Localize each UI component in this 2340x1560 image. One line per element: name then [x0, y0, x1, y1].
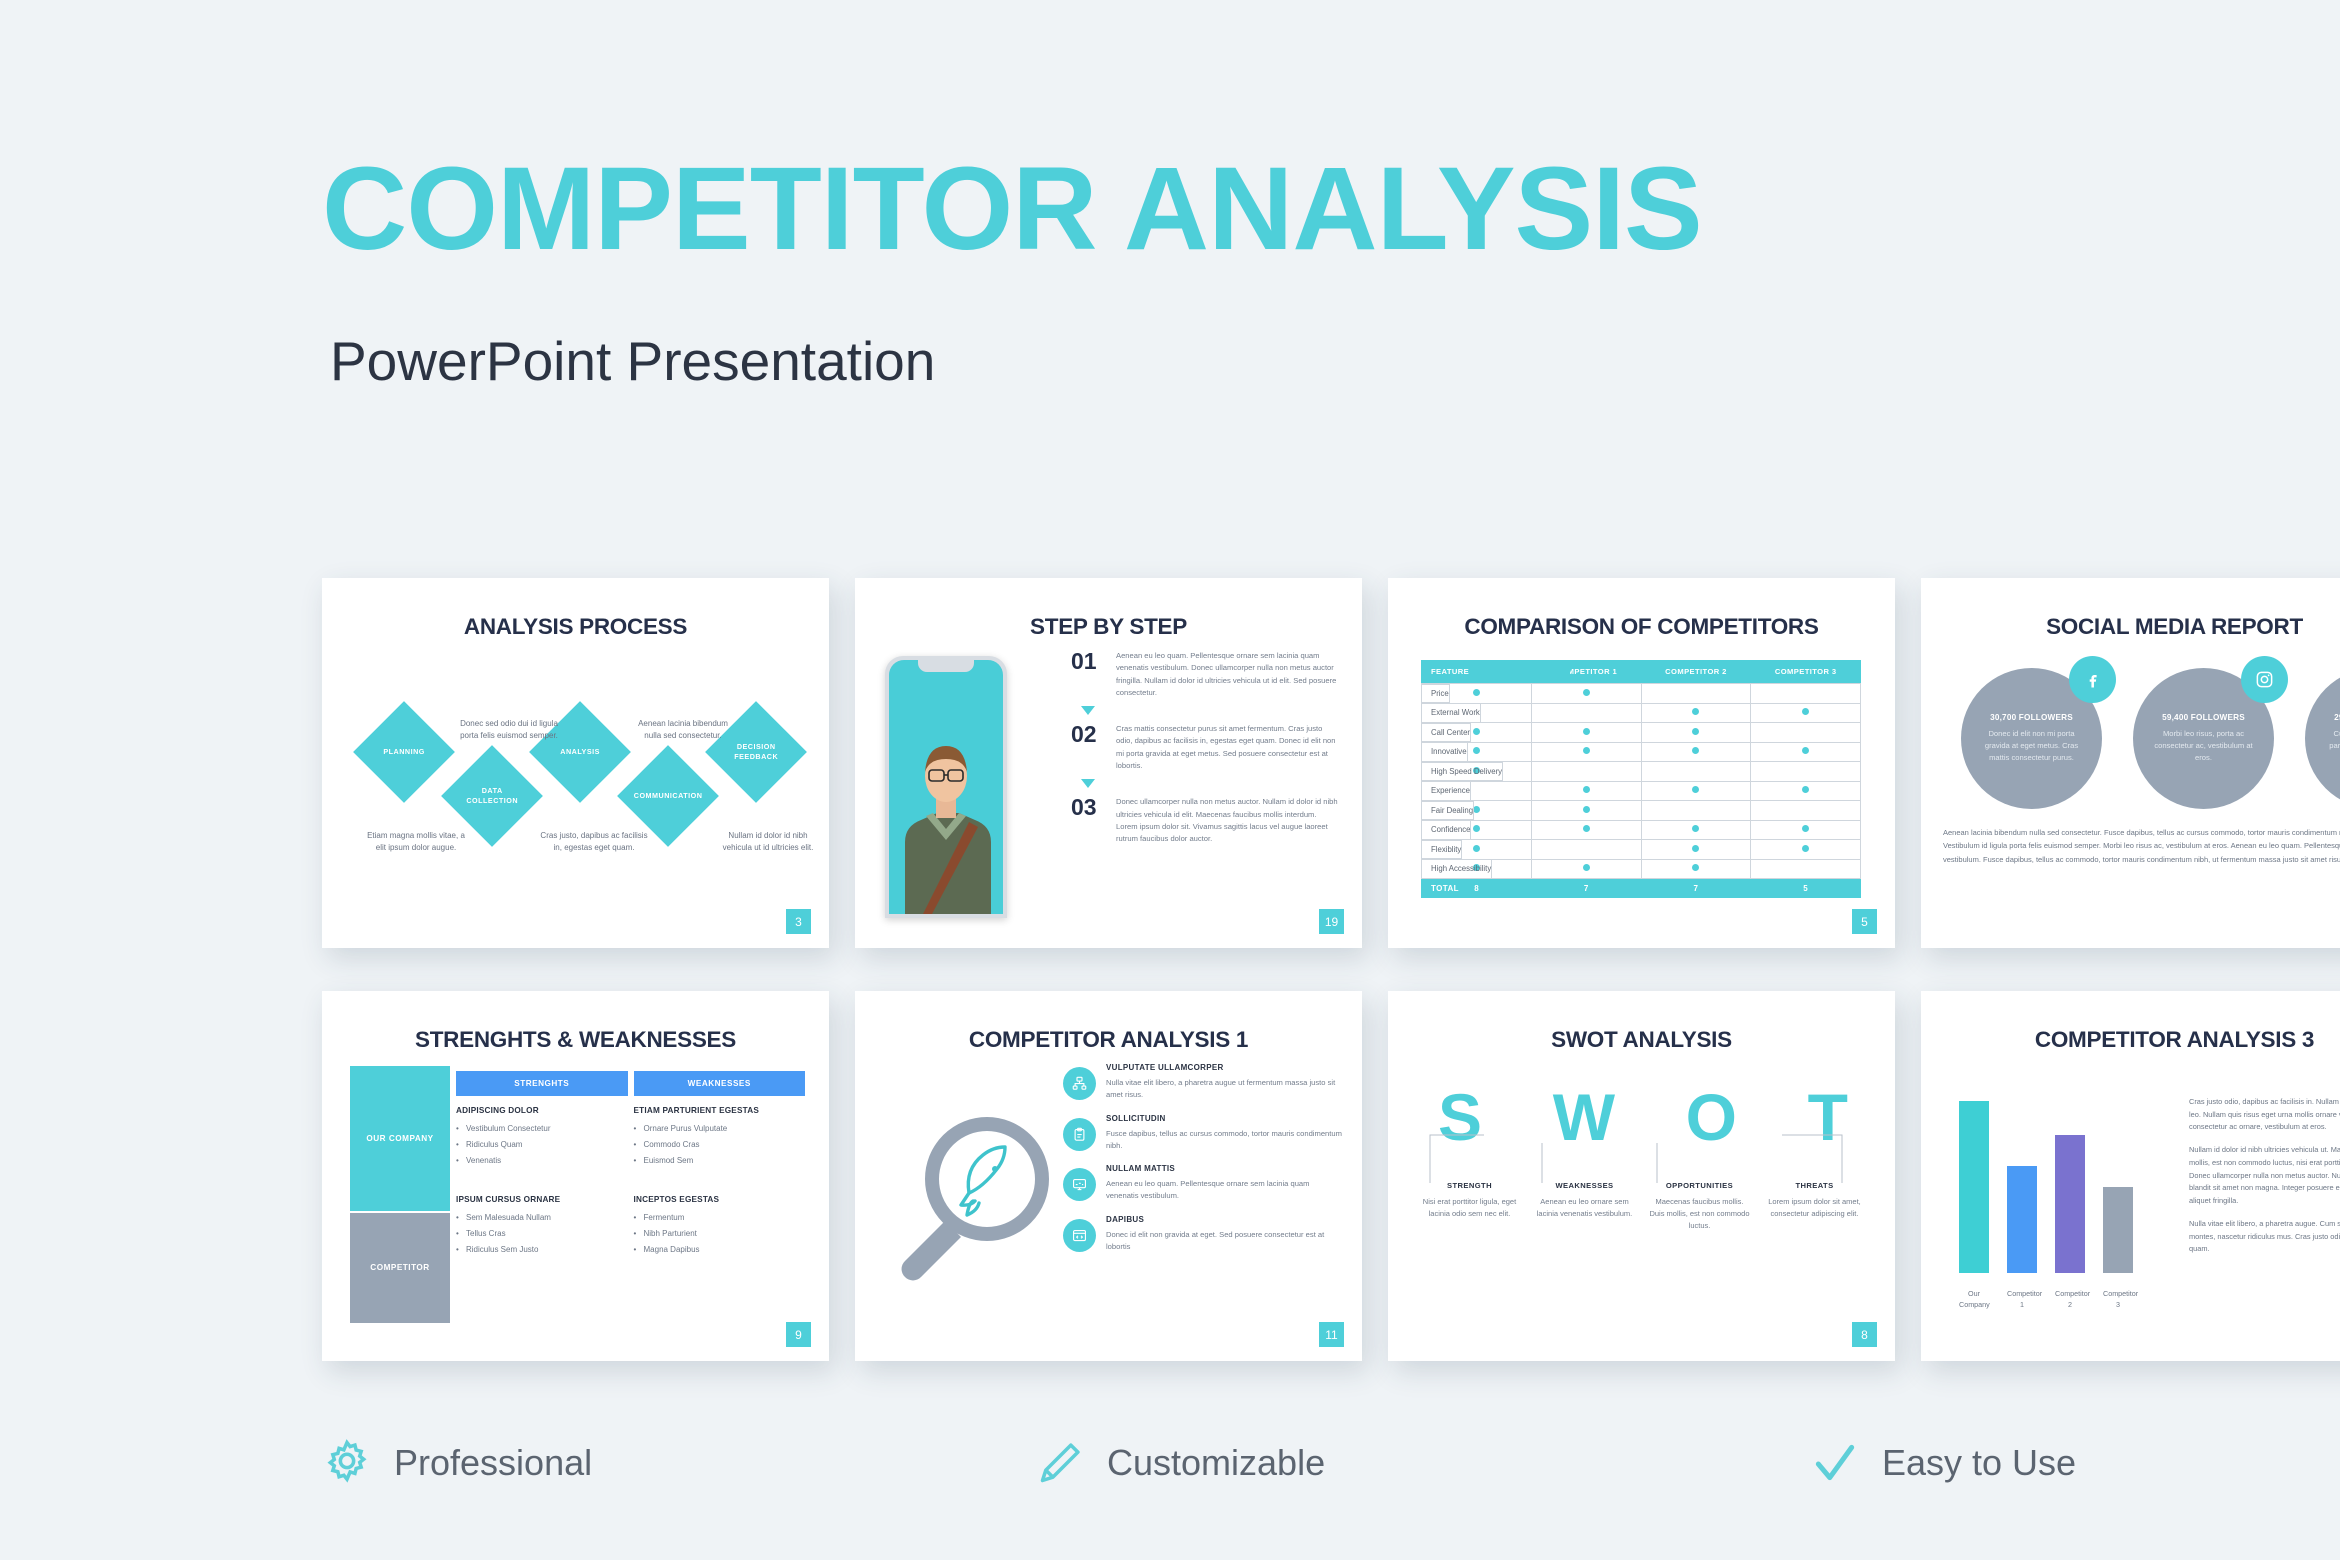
paragraph: Nullam id dolor id nibh ultricies vehicu…	[2189, 1144, 2340, 1208]
bar	[1959, 1101, 1989, 1273]
list-item-heading: NULLAM MATTIS	[1106, 1164, 1343, 1173]
list-item: Vestibulum Consectetur	[456, 1124, 628, 1133]
table-cell-mark	[1751, 820, 1861, 840]
list-item: Ridiculus Quam	[456, 1140, 628, 1149]
competitor-analysis-body: Cras justo odio, dapibus ac facilisis in…	[2189, 1096, 2340, 1266]
list-item: Magna Dapibus	[634, 1245, 806, 1254]
sw-col-heading: ADIPISCING DOLOR	[456, 1106, 628, 1115]
slide-social-media-report[interactable]: SOCIAL MEDIA REPORT 30,700 FOLLOWERS Don…	[1921, 578, 2340, 948]
table-header-cell: FEATURE	[1421, 660, 1570, 683]
table-cell-mark	[1531, 762, 1641, 782]
sw-col-strengths: ADIPISCING DOLOR Vestibulum Consectetur …	[456, 1106, 628, 1172]
sw-col-weaknesses: INCEPTOS EGESTAS Fermentum Nibh Parturie…	[634, 1195, 806, 1261]
slide-title: SOCIAL MEDIA REPORT	[1921, 614, 2340, 640]
check-dot-icon	[1473, 747, 1480, 754]
feature-label: Professional	[394, 1442, 592, 1484]
diamond-label: DATA COLLECTION	[456, 786, 528, 805]
diamond-caption: Donec sed odio dui id ligula porta felis…	[455, 718, 563, 742]
swot-col-heading: THREATS	[1764, 1181, 1865, 1190]
check-dot-icon	[1692, 825, 1699, 832]
check-dot-icon	[1583, 747, 1590, 754]
diamond-caption: Nullam id dolor id nibh vehicula ut id u…	[714, 830, 822, 854]
check-dot-icon	[1692, 786, 1699, 793]
footer-features: Professional Customizable Easy to Use	[0, 1424, 2340, 1534]
sw-col-weaknesses: ETIAM PARTURIENT EGESTAS Ornare Purus Vu…	[634, 1106, 806, 1172]
swot-col-threats: THREATS Lorem ipsum dolor sit amet, cons…	[1757, 1181, 1872, 1232]
feature-label: Customizable	[1107, 1442, 1325, 1484]
sw-header-strengths: STRENGHTS	[456, 1071, 628, 1096]
table-cell-mark	[1531, 723, 1641, 743]
check-dot-icon	[1583, 689, 1590, 696]
list-item: Nibh Parturient	[634, 1229, 806, 1238]
slide-step-by-step[interactable]: STEP BY STEP	[855, 578, 1362, 948]
list-item: Ridiculus Sem Justo	[456, 1245, 628, 1254]
check-dot-icon	[1692, 747, 1699, 754]
table-cell-feature: Fair Dealing	[1421, 801, 1474, 821]
slide-title: COMPETITOR ANALYSIS 1	[855, 1027, 1362, 1053]
table-row: Confidence	[1421, 820, 1861, 840]
list-item-heading: VULPUTATE ULLAMCORPER	[1106, 1063, 1343, 1072]
list-item-text: Donec id elit non gravida at eget. Sed p…	[1106, 1229, 1343, 1254]
step-list: 01 Aenean eu leo quam. Pellentesque orna…	[1071, 650, 1339, 855]
table-cell-mark	[1641, 703, 1751, 723]
check-dot-icon	[1473, 845, 1480, 852]
sw-list: Ornare Purus Vulputate Commodo Cras Euis…	[634, 1124, 806, 1165]
bar-label: Competitor 3	[2103, 1289, 2133, 1311]
bar	[2007, 1166, 2037, 1273]
table-cell-mark	[1641, 781, 1751, 801]
monitor-icon	[1063, 1168, 1096, 1201]
swot-col-heading: WEAKNESSES	[1534, 1181, 1635, 1190]
follower-text: Morbi leo risus, porta ac consectetur ac…	[2149, 728, 2258, 763]
slide-page-number: 11	[1319, 1322, 1344, 1347]
check-dot-icon	[1473, 728, 1480, 735]
table-cell-mark	[1531, 859, 1641, 879]
step-item: 01 Aenean eu leo quam. Pellentesque orna…	[1071, 650, 1339, 699]
table-cell-mark	[1751, 840, 1861, 860]
table-cell-mark	[1641, 840, 1751, 860]
table-cell-feature: Call Center	[1421, 723, 1471, 743]
comparison-table: FEATURE OUR COMPANY COMPETITOR 1 COMPETI…	[1421, 660, 1861, 898]
bar-chart-labels: Our CompanyCompetitor 1Competitor 2Compe…	[1951, 1289, 2166, 1311]
feature-professional: Professional	[322, 1438, 592, 1488]
table-cell-feature: Price	[1421, 684, 1450, 704]
paragraph: Nulla vitae elit libero, a pharetra augu…	[2189, 1218, 2340, 1256]
swot-col-text: Nisi erat porttitor ligula, eget lacinia…	[1419, 1196, 1520, 1220]
table-cell-mark	[1641, 801, 1751, 821]
slide-title: STEP BY STEP	[855, 614, 1362, 640]
swot-col-heading: OPPORTUNITIES	[1649, 1181, 1750, 1190]
step-text: Donec ullamcorper nulla non metus auctor…	[1116, 796, 1339, 845]
check-dot-icon	[1802, 747, 1809, 754]
check-dot-icon	[1583, 864, 1590, 871]
follower-text: Cum sociis et magnis dis parturient mont…	[2321, 728, 2340, 763]
sw-list: Sem Malesuada Nullam Tellus Cras Ridicul…	[456, 1213, 628, 1254]
follower-count: 29,900 FOLLOWERS	[2334, 713, 2340, 722]
table-row: High Accessibility	[1421, 859, 1861, 879]
check-dot-icon	[1583, 806, 1590, 813]
check-icon	[1810, 1438, 1860, 1488]
table-cell-feature: Flexiblity	[1421, 840, 1462, 860]
sw-row-competitor: IPSUM CURSUS ORNARE Sem Malesuada Nullam…	[456, 1195, 805, 1261]
table-cell-mark	[1531, 801, 1641, 821]
gear-icon	[322, 1438, 372, 1488]
step-number: 03	[1071, 796, 1105, 845]
phone-mockup	[885, 656, 1007, 918]
list-item-heading: DAPIBUS	[1106, 1215, 1343, 1224]
table-total-row: TOTAL8775	[1421, 879, 1861, 899]
table-cell-mark	[1751, 801, 1861, 821]
check-dot-icon	[1802, 786, 1809, 793]
sw-list: Vestibulum Consectetur Ridiculus Quam Ve…	[456, 1124, 628, 1165]
chevron-down-icon	[1081, 706, 1095, 715]
list-item: Tellus Cras	[456, 1229, 628, 1238]
strengths-weaknesses-grid: STRENGHTS WEAKNESSES OUR COMPANY COMPETI…	[350, 1071, 805, 1284]
slide-swot-analysis[interactable]: SWOT ANALYSIS S W O T STRENGTH Nisi	[1388, 991, 1895, 1361]
list-item: DAPIBUS Donec id elit non gravida at ege…	[1063, 1215, 1343, 1254]
table-cell-mark	[1531, 742, 1641, 762]
check-dot-icon	[1583, 728, 1590, 735]
paragraph: Cras justo odio, dapibus ac facilisis in…	[2189, 1096, 2340, 1134]
slide-row-2: STRENGHTS & WEAKNESSES STRENGHTS WEAKNES…	[0, 991, 2340, 1384]
slide-title: SWOT ANALYSIS	[1388, 1027, 1895, 1053]
table-cell-mark	[1531, 820, 1641, 840]
list-item: Venenatis	[456, 1156, 628, 1165]
list-item-text: Nulla vitae elit libero, a pharetra augu…	[1106, 1077, 1343, 1102]
slide-title: ANALYSIS PROCESS	[322, 614, 829, 640]
list-item: Fermentum	[634, 1213, 806, 1222]
check-dot-icon	[1473, 689, 1480, 696]
feature-label: Easy to Use	[1882, 1442, 2076, 1484]
table-cell-mark	[1751, 762, 1861, 782]
bar-chart: Our CompanyCompetitor 1Competitor 2Compe…	[1951, 1096, 2166, 1311]
check-dot-icon	[1473, 806, 1480, 813]
slide-competitor-analysis-3[interactable]: COMPETITOR ANALYSIS 3 Our CompanyCompeti…	[1921, 991, 2340, 1361]
person-photo	[889, 714, 1003, 914]
table-row: Innovative	[1421, 742, 1861, 762]
list-item: Ornare Purus Vulputate	[634, 1124, 806, 1133]
slide-title: STRENGHTS & WEAKNESSES	[322, 1027, 829, 1053]
bar-wrap	[2103, 1101, 2133, 1273]
slide-page-number: 3	[786, 909, 811, 934]
list-item-heading: SOLLICITUDIN	[1106, 1114, 1343, 1123]
table-cell-feature: High Speed Delivery	[1421, 762, 1503, 782]
swot-col-strength: STRENGTH Nisi erat porttitor ligula, ege…	[1412, 1181, 1527, 1232]
check-dot-icon	[1583, 786, 1590, 793]
diamond-caption: Etiam magna mollis vitae, a elit ipsum d…	[362, 830, 470, 854]
table-row: Fair Dealing	[1421, 801, 1861, 821]
slide-title: COMPARISON OF COMPETITORS	[1388, 614, 1895, 640]
slide-page-number: 9	[786, 1322, 811, 1347]
swot-col-text: Maecenas faucibus mollis. Duis mollis, e…	[1649, 1196, 1750, 1232]
check-dot-icon	[1583, 825, 1590, 832]
table-cell-mark	[1641, 684, 1751, 704]
swot-columns: STRENGTH Nisi erat porttitor ligula, ege…	[1412, 1181, 1872, 1232]
chevron-down-icon	[1081, 779, 1095, 788]
table-header-cell: COMPETITOR 3	[1751, 660, 1861, 684]
follower-count: 59,400 FOLLOWERS	[2162, 713, 2245, 722]
table-cell-total: 7	[1531, 879, 1641, 899]
list-item-body: DAPIBUS Donec id elit non gravida at ege…	[1106, 1215, 1343, 1254]
follower-count: 30,700 FOLLOWERS	[1990, 713, 2073, 722]
step-number: 02	[1071, 723, 1105, 772]
list-item-body: SOLLICITUDIN Fusce dapibus, tellus ac cu…	[1106, 1114, 1343, 1153]
step-text: Cras mattis consectetur purus sit amet f…	[1116, 723, 1339, 772]
table-cell-mark	[1531, 781, 1641, 801]
swot-connector-lines	[1412, 1131, 1872, 1183]
list-item: Commodo Cras	[634, 1140, 806, 1149]
social-circle-twitter: 29,900 FOLLOWERS Cum sociis et magnis di…	[2305, 668, 2340, 809]
feature-easy-to-use: Easy to Use	[1810, 1438, 2076, 1488]
diamond-caption: Aenean lacinia bibendum nulla sed consec…	[629, 718, 737, 742]
diamond-analysis: ANALYSIS	[529, 701, 631, 803]
table-cell-feature: External Work	[1421, 703, 1481, 723]
diamond-decision-feedback: DECISION FEEDBACK	[705, 701, 807, 803]
slide-analysis-process[interactable]: ANALYSIS PROCESS PLANNING DATA COLLECTIO…	[322, 578, 829, 948]
table-cell-total: 7	[1641, 879, 1751, 899]
social-summary-paragraph: Aenean lacinia bibendum nulla sed consec…	[1943, 826, 2340, 866]
table-cell-mark	[1531, 703, 1641, 723]
bar-wrap	[2007, 1101, 2037, 1273]
list-item: NULLAM MATTIS Aenean eu leo quam. Pellen…	[1063, 1164, 1343, 1203]
table-cell-mark	[1751, 781, 1861, 801]
slide-row-1: ANALYSIS PROCESS PLANNING DATA COLLECTIO…	[0, 578, 2340, 971]
check-dot-icon	[1473, 825, 1480, 832]
table-cell-feature: Experience	[1421, 781, 1471, 801]
follower-text: Donec id elit non mi porta gravida at eg…	[1977, 728, 2086, 763]
table-cell-mark	[1641, 820, 1751, 840]
diamond-label: DECISION FEEDBACK	[720, 742, 792, 761]
phone-notch	[918, 660, 974, 672]
swot-col-text: Lorem ipsum dolor sit amet, consectetur …	[1764, 1196, 1865, 1220]
code-window-icon	[1063, 1219, 1096, 1252]
swot-col-opportunities: OPPORTUNITIES Maecenas faucibus mollis. …	[1642, 1181, 1757, 1232]
table-cell-total: 5	[1751, 879, 1861, 899]
feature-customizable: Customizable	[1035, 1438, 1325, 1488]
slide-competitor-analysis-1[interactable]: COMPETITOR ANALYSIS 1	[855, 991, 1362, 1361]
sw-header-weaknesses: WEAKNESSES	[634, 1071, 806, 1096]
list-item-text: Fusce dapibus, tellus ac cursus commodo,…	[1106, 1128, 1343, 1153]
table-cell-mark	[1751, 684, 1861, 704]
slide-title: COMPETITOR ANALYSIS 3	[1921, 1027, 2340, 1053]
facebook-icon	[2069, 656, 2116, 703]
sw-tile-competitor: COMPETITOR	[350, 1213, 450, 1323]
swot-col-weaknesses: WEAKNESSES Aenean eu leo ornare sem laci…	[1527, 1181, 1642, 1232]
list-item-body: VULPUTATE ULLAMCORPER Nulla vitae elit l…	[1106, 1063, 1343, 1102]
table-row: Price	[1421, 684, 1861, 704]
diamond-caption: Cras justo, dapibus ac facilisis in, ege…	[540, 830, 648, 854]
competitor-feature-list: VULPUTATE ULLAMCORPER Nulla vitae elit l…	[1063, 1063, 1343, 1265]
table-header-cell: COMPETITOR 2	[1641, 660, 1751, 684]
bar-wrap	[1959, 1101, 1989, 1273]
sw-body: OUR COMPANY COMPETITOR ADIPISCING DOLOR …	[350, 1106, 805, 1261]
diamond-label: COMMUNICATION	[632, 791, 704, 801]
clipboard-icon	[1063, 1118, 1096, 1151]
sitemap-icon	[1063, 1067, 1096, 1100]
check-dot-icon	[1692, 864, 1699, 871]
social-circles: 30,700 FOLLOWERS Donec id elit non mi po…	[1939, 656, 2340, 806]
table-cell-feature: High Accessibility	[1421, 859, 1492, 879]
diamond-diagram: PLANNING DATA COLLECTION ANALYSIS COMMUN…	[322, 638, 829, 888]
table-cell-mark	[1751, 723, 1861, 743]
instagram-icon	[2241, 656, 2288, 703]
table-cell-mark	[1751, 859, 1861, 879]
step-item: 03 Donec ullamcorper nulla non metus auc…	[1071, 796, 1339, 845]
page-title: COMPETITOR ANALYSIS	[322, 150, 1702, 268]
bar-chart-bars	[1951, 1101, 2166, 1273]
diamond-label: ANALYSIS	[544, 747, 616, 757]
pencil-icon	[1035, 1438, 1085, 1488]
sw-col-heading: ETIAM PARTURIENT EGESTAS	[634, 1106, 806, 1115]
check-dot-icon	[1802, 845, 1809, 852]
table-cell-mark	[1531, 684, 1641, 704]
step-number: 01	[1071, 650, 1105, 699]
swot-col-heading: STRENGTH	[1419, 1181, 1520, 1190]
check-dot-icon	[1802, 825, 1809, 832]
diamond-planning: PLANNING	[353, 701, 455, 803]
bar	[2055, 1135, 2085, 1273]
list-item: VULPUTATE ULLAMCORPER Nulla vitae elit l…	[1063, 1063, 1343, 1102]
table-cell-feature: Innovative	[1421, 742, 1468, 762]
slide-page-number: 19	[1319, 909, 1344, 934]
bar-label: Competitor 2	[2055, 1289, 2085, 1311]
table-row: Call Center	[1421, 723, 1861, 743]
table-row: Flexiblity	[1421, 840, 1861, 860]
bar-label: Competitor 1	[2007, 1289, 2037, 1311]
table-cell-mark	[1641, 859, 1751, 879]
sw-col-strengths: IPSUM CURSUS ORNARE Sem Malesuada Nullam…	[456, 1195, 628, 1261]
sw-tile-our-company: OUR COMPANY	[350, 1066, 450, 1211]
list-item: Sem Malesuada Nullam	[456, 1213, 628, 1222]
slide-strengths-weaknesses[interactable]: STRENGHTS & WEAKNESSES STRENGHTS WEAKNES…	[322, 991, 829, 1361]
page-subtitle: PowerPoint Presentation	[330, 334, 935, 389]
magnifier-icon	[883, 1111, 1063, 1291]
step-item: 02 Cras mattis consectetur purus sit ame…	[1071, 723, 1339, 772]
check-dot-icon	[1692, 845, 1699, 852]
table-cell-mark	[1641, 723, 1751, 743]
bar-wrap	[2055, 1101, 2085, 1273]
slide-grid: ANALYSIS PROCESS PLANNING DATA COLLECTIO…	[0, 578, 2340, 1404]
check-dot-icon	[1802, 708, 1809, 715]
check-dot-icon	[1692, 708, 1699, 715]
list-item-body: NULLAM MATTIS Aenean eu leo quam. Pellen…	[1106, 1164, 1343, 1203]
phone-screen	[889, 660, 1003, 914]
swot-col-text: Aenean eu leo ornare sem lacinia venenat…	[1534, 1196, 1635, 1220]
table-row: External Work	[1421, 703, 1861, 723]
slide-page-number: 5	[1852, 909, 1877, 934]
slide-comparison-of-competitors[interactable]: COMPARISON OF COMPETITORS FEATURE OUR CO…	[1388, 578, 1895, 948]
table-cell-mark	[1641, 762, 1751, 782]
list-item-text: Aenean eu leo quam. Pellentesque ornare …	[1106, 1178, 1343, 1203]
table-cell-total-label: TOTAL	[1421, 879, 1459, 899]
diamond-label: PLANNING	[368, 747, 440, 757]
check-dot-icon	[1692, 728, 1699, 735]
table-cell-mark	[1751, 703, 1861, 723]
table-row: Experience	[1421, 781, 1861, 801]
sw-list: Fermentum Nibh Parturient Magna Dapibus	[634, 1213, 806, 1254]
table-header-row: FEATURE OUR COMPANY COMPETITOR 1 COMPETI…	[1421, 660, 1861, 684]
bar-label: Our Company	[1959, 1289, 1989, 1311]
list-item: Euismod Sem	[634, 1156, 806, 1165]
sw-col-heading: INCEPTOS EGESTAS	[634, 1195, 806, 1204]
table-cell-mark	[1751, 742, 1861, 762]
table-cell-mark	[1531, 840, 1641, 860]
table-row: High Speed Delivery	[1421, 762, 1861, 782]
slide-page-number: 8	[1852, 1322, 1877, 1347]
list-item: SOLLICITUDIN Fusce dapibus, tellus ac cu…	[1063, 1114, 1343, 1153]
sw-row-our-company: ADIPISCING DOLOR Vestibulum Consectetur …	[456, 1106, 805, 1172]
sw-col-heading: IPSUM CURSUS ORNARE	[456, 1195, 628, 1204]
step-text: Aenean eu leo quam. Pellentesque ornare …	[1116, 650, 1339, 699]
table-cell-feature: Confidence	[1421, 820, 1471, 840]
poster-page: COMPETITOR ANALYSIS PowerPoint Presentat…	[0, 0, 2340, 1560]
table-cell-mark	[1641, 742, 1751, 762]
bar	[2103, 1187, 2133, 1273]
